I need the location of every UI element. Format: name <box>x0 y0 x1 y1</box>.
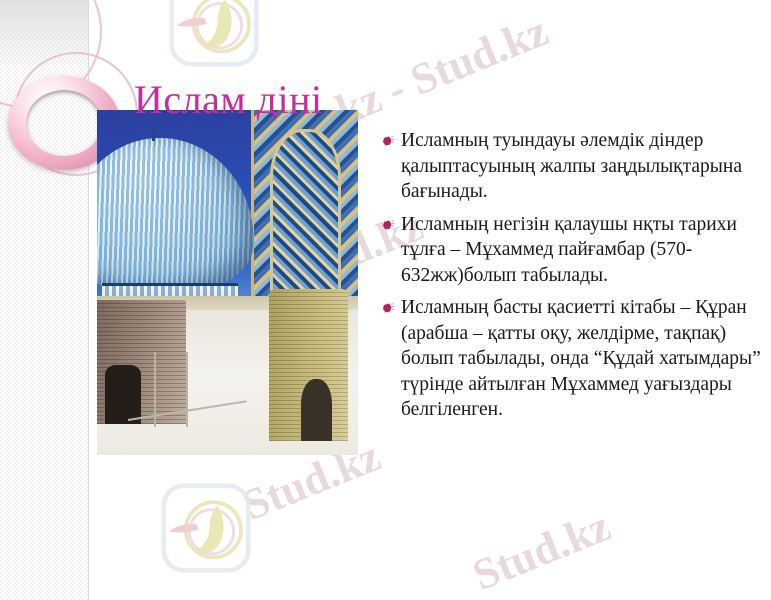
photo-portal-arch <box>270 129 341 301</box>
photo-right-archway <box>301 379 332 441</box>
photo-left-doorway <box>105 365 142 424</box>
photo-rail-post-2 <box>186 352 188 428</box>
bullet-item: Исламның туындауы әлемдік діндер қалыпта… <box>381 128 771 205</box>
stud-kz-bird-logo <box>160 482 252 574</box>
bullet-list: Исламның туындауы әлемдік діндер қалыпта… <box>381 128 771 430</box>
bullet-text: Исламның негізін қалаушы нқты тарихи тұл… <box>401 212 771 289</box>
slide-canvas: kz - Stud.kzkz - Stud.kzStud.kzStud.kz И… <box>0 0 771 600</box>
watermark-text: kz - Stud.kz <box>329 5 556 136</box>
stud-kz-bird-logo <box>168 0 260 68</box>
diamond-bullet-icon <box>381 212 401 233</box>
bullet-item: Исламның негізін қалаушы нқты тарихи тұл… <box>381 212 771 289</box>
mosque-photo <box>97 110 358 455</box>
diamond-bullet-icon <box>381 295 401 316</box>
photo-dome-finial <box>152 127 155 141</box>
watermark-text: Stud.kz <box>466 500 618 600</box>
page-title: Ислам діні <box>134 77 323 123</box>
photo-tiled-portal <box>251 110 358 303</box>
bullet-item: Исламның басты қасиетті кітабы – Құран (… <box>381 295 771 423</box>
bullet-text: Исламның туындауы әлемдік діндер қалыпта… <box>401 128 771 205</box>
bullet-text: Исламның басты қасиетті кітабы – Құран (… <box>401 295 771 423</box>
diamond-bullet-icon <box>381 128 401 149</box>
